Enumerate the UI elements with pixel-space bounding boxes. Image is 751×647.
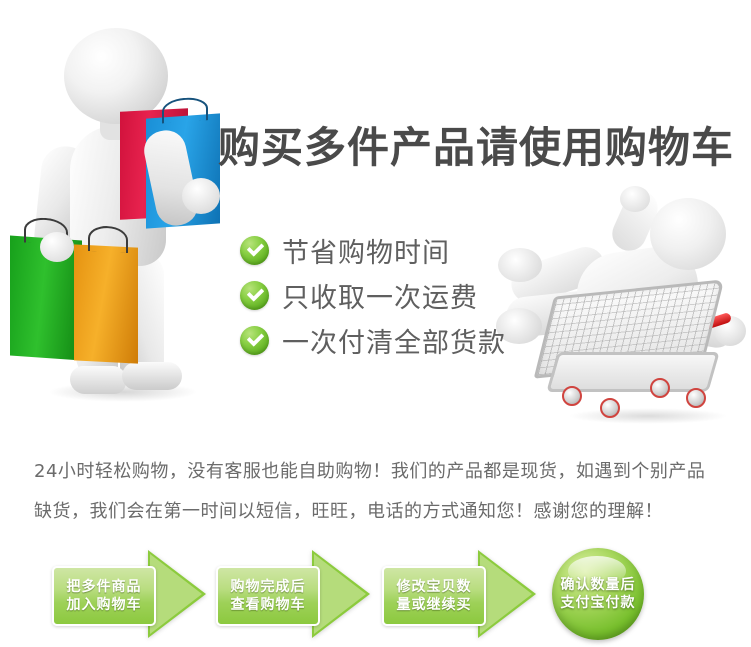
- step-label-line2: 量或继续买: [397, 596, 472, 614]
- bag-handle: [162, 96, 208, 123]
- step-label-line2: 查看购物车: [231, 596, 306, 614]
- arrow-right-icon: [478, 550, 536, 638]
- cart-figure-head: [650, 198, 726, 270]
- step-label: 修改宝贝数 量或继续买: [397, 578, 472, 614]
- shopper-left-foot: [70, 366, 126, 394]
- step-label-line2: 支付宝付款: [561, 594, 636, 612]
- step-label: 确认数量后 支付宝付款: [561, 576, 636, 612]
- step-label-line1: 确认数量后: [561, 576, 636, 594]
- step-label-line1: 购物完成后: [231, 578, 306, 596]
- step-arrow-body: 修改宝贝数 量或继续买: [382, 566, 486, 626]
- step-arrow: 把多件商品 加入购物车: [52, 548, 210, 640]
- notice-text: 24小时轻松购物，没有客服也能自助购物！我们的产品都是现货，如遇到个别产品缺货，…: [34, 452, 718, 532]
- step-arrow-body: 购物完成后 查看购物车: [216, 566, 320, 626]
- 3d-shopper-illustration: [0, 10, 240, 430]
- shopper-right-hand: [182, 178, 220, 214]
- list-item: 只收取一次运费: [240, 273, 506, 318]
- step-3: 修改宝贝数 量或继续买: [382, 548, 540, 640]
- cart-figure-raised-hand: [620, 186, 650, 212]
- benefit-label: 一次付清全部货款: [282, 321, 506, 360]
- step-arrow: 修改宝贝数 量或继续买: [382, 548, 540, 640]
- step-arrow: 购物完成后 查看购物车: [216, 548, 374, 640]
- step-circle: 确认数量后 支付宝付款: [552, 548, 644, 640]
- benefit-label: 节省购物时间: [282, 231, 450, 270]
- cart-shadow: [568, 408, 728, 424]
- check-circle-icon: [240, 281, 269, 310]
- shopper-right-foot: [122, 362, 182, 390]
- arrow-right-icon: [312, 550, 370, 638]
- cart-wheel: [686, 388, 706, 408]
- step-label: 购物完成后 查看购物车: [231, 578, 306, 614]
- step-label-line2: 加入购物车: [67, 596, 142, 614]
- check-circle-icon: [240, 236, 269, 265]
- page-title: 购买多件产品请使用购物车: [218, 122, 698, 174]
- step-1: 把多件商品 加入购物车: [52, 548, 210, 640]
- step-label: 把多件商品 加入购物车: [67, 578, 142, 614]
- shopper-left-hand: [40, 232, 74, 262]
- list-item: 一次付清全部货款: [240, 318, 506, 363]
- step-label-line1: 修改宝贝数: [397, 578, 472, 596]
- shopping-cart-icon: [538, 282, 728, 414]
- shopping-bag-orange-icon: [74, 244, 138, 363]
- step-2: 购物完成后 查看购物车: [216, 548, 374, 640]
- cart-wheel: [650, 378, 670, 398]
- step-label-line1: 把多件商品: [67, 578, 142, 596]
- check-circle-icon: [240, 326, 269, 355]
- arrow-right-icon: [148, 550, 206, 638]
- benefit-label: 只收取一次运费: [282, 276, 478, 315]
- cart-wheel: [562, 386, 582, 406]
- step-flow: 把多件商品 加入购物车 购物完成后 查看购物车: [0, 548, 751, 644]
- step-4: 确认数量后 支付宝付款: [552, 548, 644, 640]
- benefit-list: 节省购物时间 只收取一次运费 一次付清全部货款: [240, 228, 506, 363]
- cart-wheel: [600, 398, 620, 418]
- promo-banner: 购买多件产品请使用购物车 节省购物时间 只收取一次运费 一次付清全部货款 24小…: [0, 0, 751, 647]
- list-item: 节省购物时间: [240, 228, 506, 273]
- 3d-cart-figure-illustration: [492, 190, 750, 428]
- step-arrow-body: 把多件商品 加入购物车: [52, 566, 156, 626]
